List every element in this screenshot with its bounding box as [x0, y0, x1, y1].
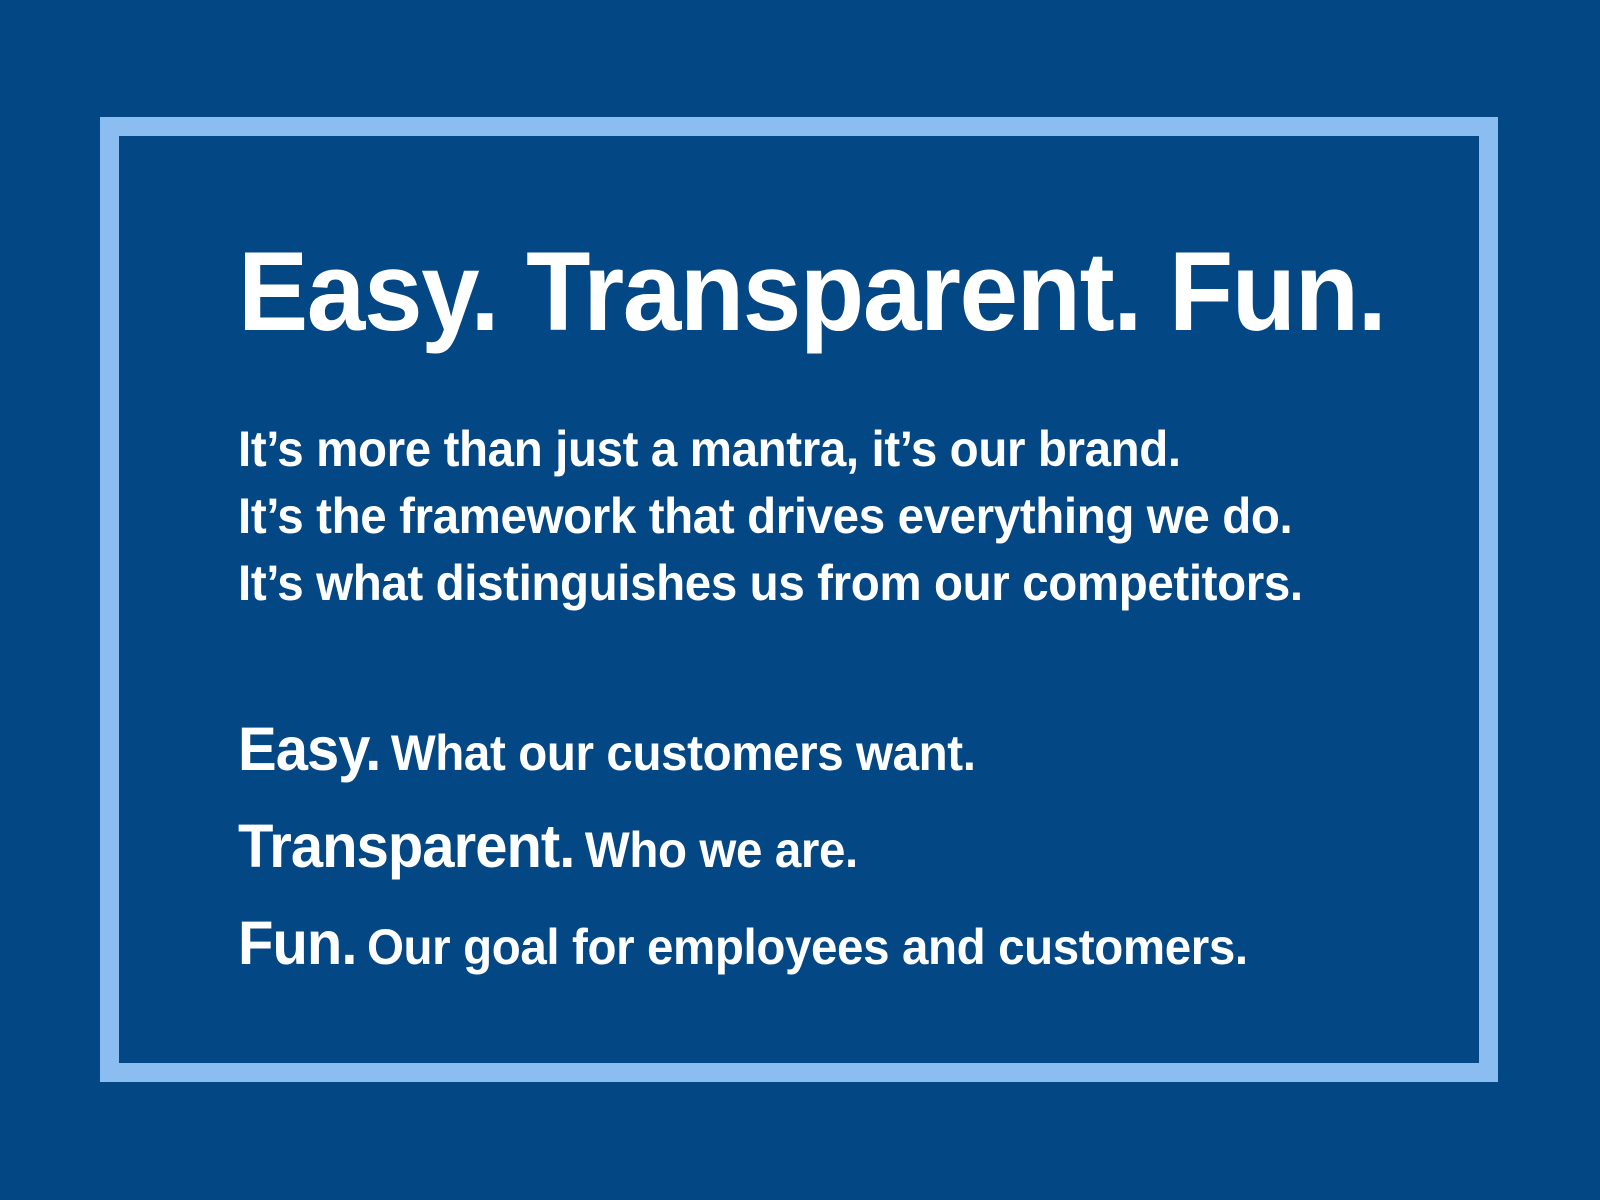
page-title: Easy. Transparent. Fun. [238, 236, 1366, 348]
slide-content: Easy. Transparent. Fun. It’s more than j… [238, 236, 1438, 1000]
definition-term-transparent: Transparent. [238, 812, 574, 880]
definition-description-fun: Our goal for employees and customers. [367, 919, 1248, 975]
definition-item-easy: Easy.What our customers want. [238, 709, 1378, 806]
definition-item-fun: Fun.Our goal for employees and customers… [238, 903, 1378, 1000]
intro-line-2: It’s the framework that drives everythin… [238, 483, 1378, 550]
intro-line-1: It’s more than just a mantra, it’s our b… [238, 416, 1378, 483]
intro-line-3: It’s what distinguishes us from our comp… [238, 550, 1378, 617]
intro-paragraph: It’s more than just a mantra, it’s our b… [238, 416, 1438, 617]
brand-mantra-slide: Easy. Transparent. Fun. It’s more than j… [0, 0, 1600, 1200]
definition-description-transparent: Who we are. [585, 822, 858, 878]
definition-description-easy: What our customers want. [391, 725, 976, 781]
definition-term-easy: Easy. [238, 715, 380, 783]
definition-term-fun: Fun. [238, 909, 356, 977]
definition-item-transparent: Transparent.Who we are. [238, 806, 1378, 903]
definition-list: Easy.What our customers want. Transparen… [238, 709, 1438, 1000]
